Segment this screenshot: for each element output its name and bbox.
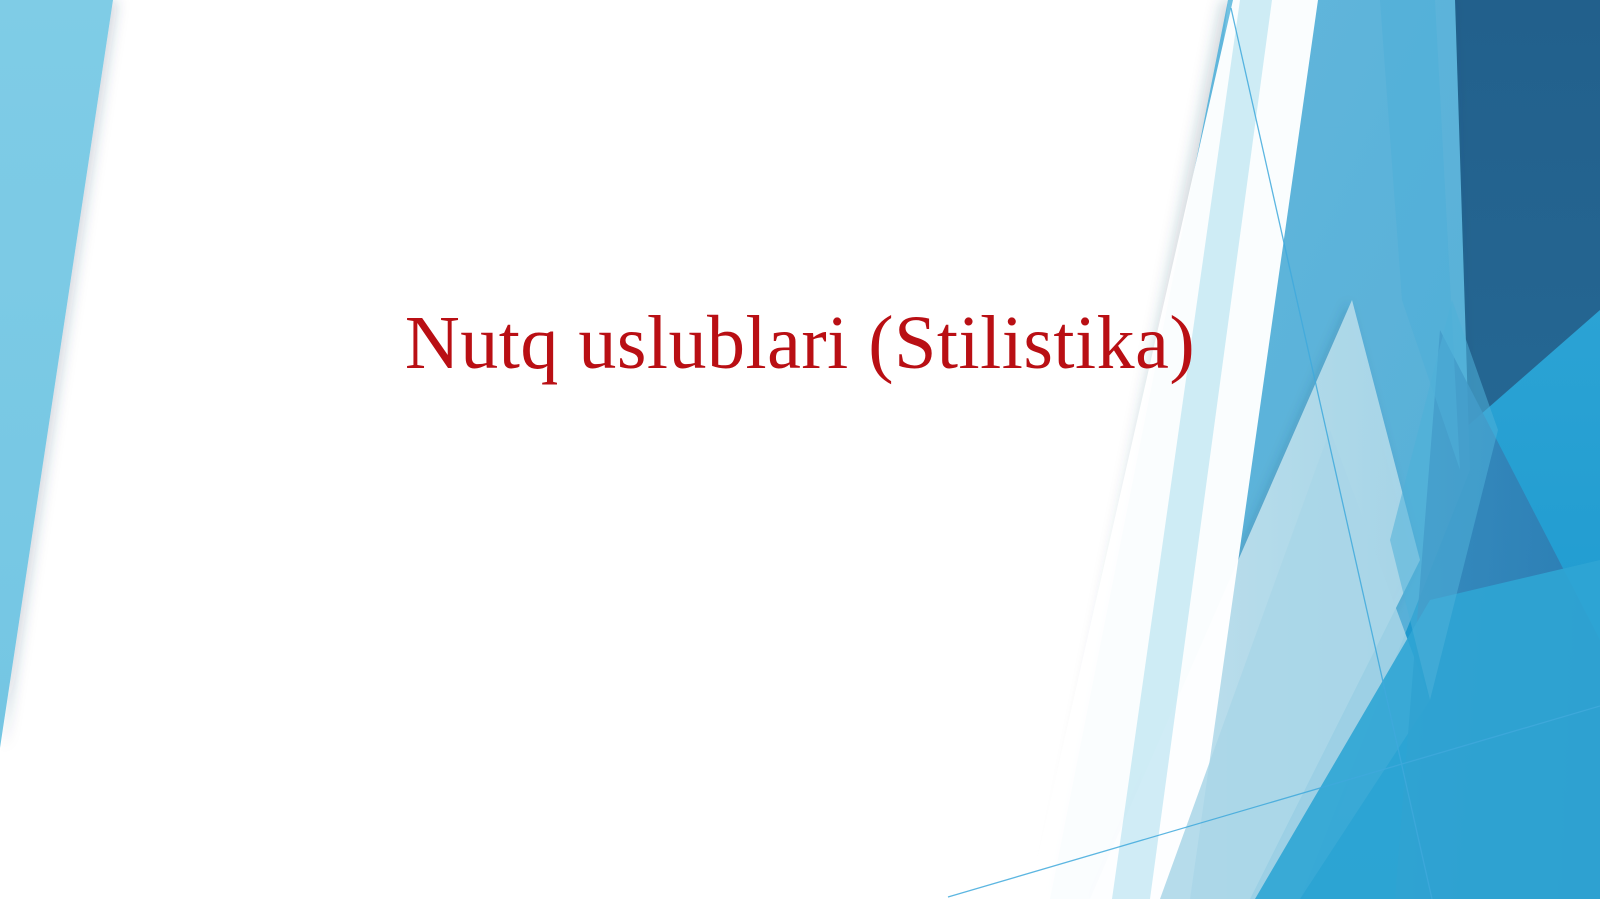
slide-canvas: Nutq uslublari (Stilistika) bbox=[0, 0, 1600, 899]
background-decoration bbox=[0, 0, 1600, 899]
